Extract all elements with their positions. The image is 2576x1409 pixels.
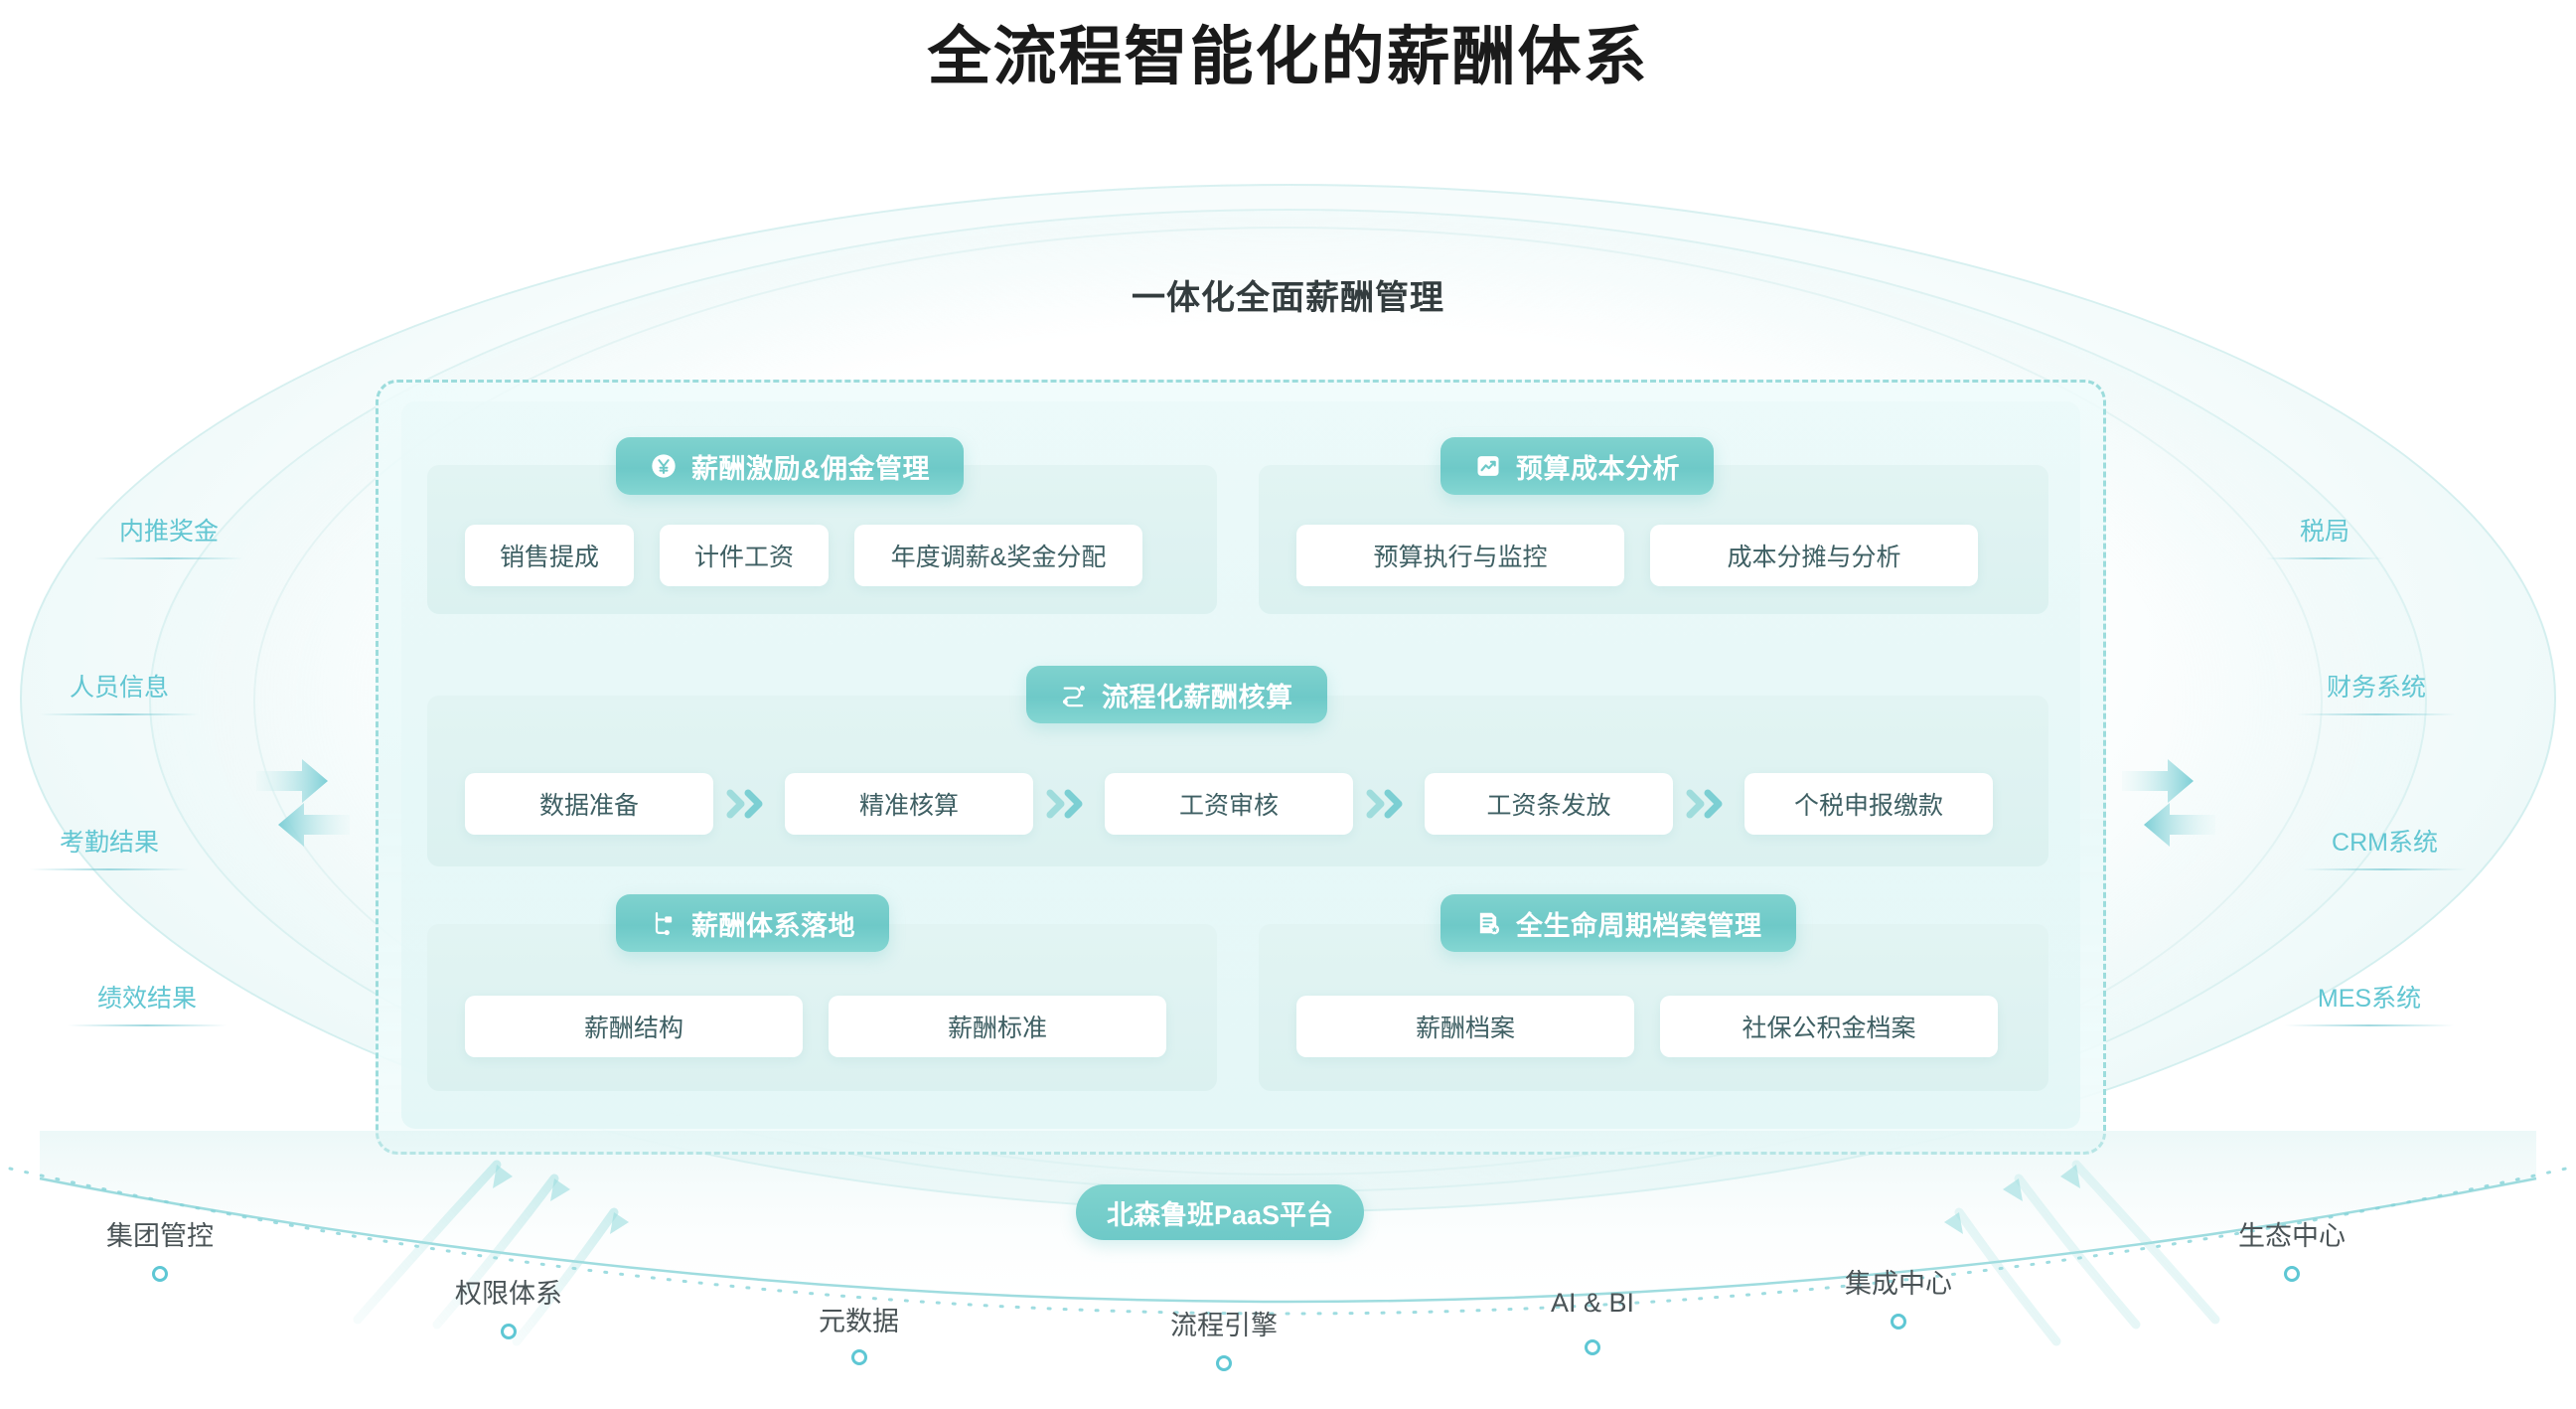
system-label-mes[interactable]: MES系统: [2285, 979, 2454, 1026]
system-label-text: CRM系统: [2332, 829, 2438, 857]
double-chevron-icon: [713, 789, 785, 819]
paas-platform-badge[interactable]: 北森鲁班PaaS平台: [1076, 1184, 1364, 1240]
system-label-finance[interactable]: 财务系统: [2297, 668, 2456, 715]
underline-rule: [2265, 557, 2384, 559]
underline-rule: [2285, 1024, 2454, 1026]
capability-dot: [501, 1324, 517, 1339]
capability-dot: [152, 1266, 168, 1282]
double-chevron-icon: [1353, 789, 1425, 819]
tag-row-budget: 预算执行与监控 成本分摊与分析: [1296, 525, 1978, 586]
double-chevron-icon: [1673, 789, 1744, 819]
source-label-attendance[interactable]: 考勤结果: [30, 823, 189, 870]
section-header-label: 流程化薪酬核算: [1102, 676, 1293, 714]
underline-rule: [40, 713, 199, 715]
capability-label-integration-center[interactable]: 集成中心: [1834, 1262, 1963, 1301]
source-label-personnel-info[interactable]: 人员信息: [40, 668, 199, 715]
section-header-label: 薪酬体系落地: [691, 904, 855, 943]
flow-step[interactable]: 工资条发放: [1425, 773, 1673, 835]
flow-step[interactable]: 数据准备: [465, 773, 713, 835]
capability-dot: [851, 1349, 867, 1365]
system-label-crm[interactable]: CRM系统: [2303, 823, 2467, 870]
file-document-icon: [1474, 909, 1502, 937]
hierarchy-tree-icon: [650, 909, 678, 937]
tag-row-incentive: 销售提成 计件工资 年度调薪&奖金分配: [465, 525, 1142, 586]
capability-label-group-control[interactable]: 集团管控: [95, 1214, 225, 1253]
capability-dot: [1216, 1355, 1232, 1371]
chart-report-icon: [1474, 452, 1502, 480]
tag-item[interactable]: 销售提成: [465, 525, 634, 586]
section-header-structure[interactable]: 薪酬体系落地: [616, 894, 889, 952]
underline-rule: [2303, 868, 2467, 870]
underline-rule: [94, 557, 243, 559]
tag-item[interactable]: 薪酬标准: [829, 996, 1166, 1057]
tag-row-structure: 薪酬结构 薪酬标准: [465, 996, 1166, 1057]
section-header-incentive[interactable]: 薪酬激励&佣金管理: [616, 437, 964, 495]
flow-branch-icon: [1060, 681, 1088, 708]
flow-step[interactable]: 个税申报缴款: [1744, 773, 1993, 835]
diagram-canvas: 全流程智能化的薪酬体系 一体化全面薪酬管理 薪酬激励&佣金管理 预算: [0, 0, 2576, 1409]
source-label-internal-referral[interactable]: 内推奖金: [94, 512, 243, 559]
source-label-text: 内推奖金: [119, 518, 219, 546]
flow-step[interactable]: 工资审核: [1105, 773, 1353, 835]
payroll-flow-row: 数据准备 精准核算 工资审核 工资条发放: [465, 773, 1993, 835]
tag-item[interactable]: 计件工资: [660, 525, 829, 586]
capability-label-ecosystem-center[interactable]: 生态中心: [2227, 1214, 2356, 1253]
tag-row-archive: 薪酬档案 社保公积金档案: [1296, 996, 1998, 1057]
source-label-text: 考勤结果: [60, 829, 159, 857]
capability-label-process-engine[interactable]: 流程引擎: [1159, 1304, 1288, 1342]
capability-label-metadata[interactable]: 元数据: [807, 1300, 911, 1338]
capability-label-permission-system[interactable]: 权限体系: [444, 1272, 573, 1311]
section-header-archive[interactable]: 全生命周期档案管理: [1440, 894, 1796, 952]
capability-dot: [2284, 1266, 2300, 1282]
system-label-tax-bureau[interactable]: 税局: [2265, 512, 2384, 559]
capability-dot: [1585, 1339, 1600, 1355]
flow-step[interactable]: 精准核算: [785, 773, 1033, 835]
exchange-arrows-right-icon: [2114, 745, 2223, 855]
source-label-text: 人员信息: [70, 674, 169, 702]
platform-arc-graphics: [0, 1131, 2576, 1409]
system-label-text: 财务系统: [2327, 674, 2426, 702]
yuan-circle-icon: [650, 452, 678, 480]
section-header-label: 全生命周期档案管理: [1516, 904, 1762, 943]
capability-label-ai-bi[interactable]: AI & BI: [1533, 1288, 1652, 1319]
tag-item[interactable]: 薪酬档案: [1296, 996, 1634, 1057]
tag-item[interactable]: 预算执行与监控: [1296, 525, 1624, 586]
section-header-budget[interactable]: 预算成本分析: [1440, 437, 1714, 495]
tag-item[interactable]: 年度调薪&奖金分配: [854, 525, 1142, 586]
capability-dot: [1891, 1314, 1906, 1330]
source-label-text: 绩效结果: [97, 985, 197, 1013]
section-subtitle: 一体化全面薪酬管理: [0, 270, 2576, 319]
underline-rule: [2297, 713, 2456, 715]
underline-rule: [30, 868, 189, 870]
page-title: 全流程智能化的薪酬体系: [0, 6, 2576, 97]
tag-item[interactable]: 成本分摊与分析: [1650, 525, 1978, 586]
exchange-arrows-left-icon: [248, 745, 358, 855]
source-label-performance[interactable]: 绩效结果: [68, 979, 227, 1026]
double-chevron-icon: [1033, 789, 1105, 819]
system-label-text: MES系统: [2318, 985, 2421, 1013]
underline-rule: [68, 1024, 227, 1026]
section-header-payroll-flow[interactable]: 流程化薪酬核算: [1026, 666, 1327, 723]
section-header-label: 薪酬激励&佣金管理: [691, 447, 930, 486]
tag-item[interactable]: 薪酬结构: [465, 996, 803, 1057]
system-label-text: 税局: [2300, 518, 2349, 546]
section-header-label: 预算成本分析: [1516, 447, 1680, 486]
tag-item[interactable]: 社保公积金档案: [1660, 996, 1998, 1057]
